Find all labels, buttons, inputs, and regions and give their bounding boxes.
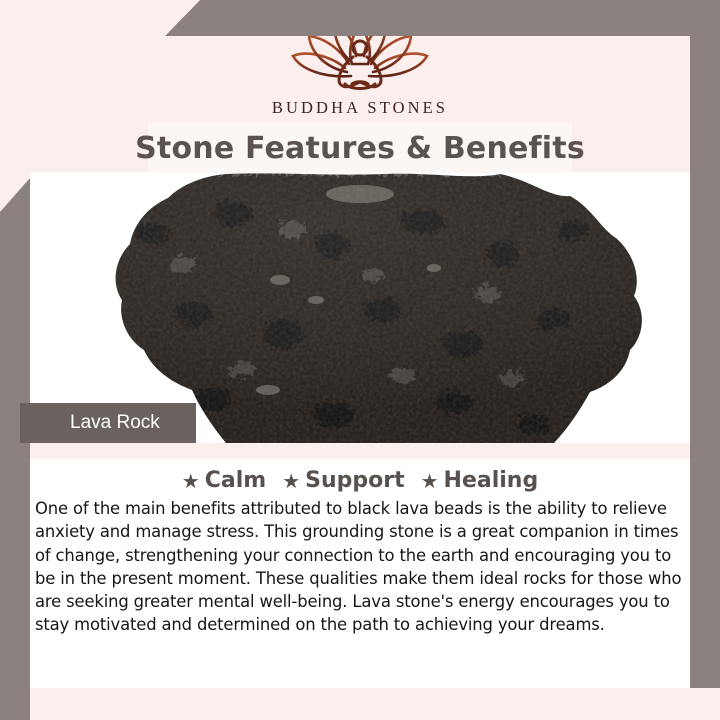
- feature-label: Healing: [444, 468, 539, 493]
- feature-label: Calm: [205, 468, 266, 493]
- page-title: Stone Features & Benefits: [135, 131, 585, 166]
- feature-item-support: ★ Support: [282, 468, 404, 493]
- feature-item-healing: ★ Healing: [421, 468, 539, 493]
- benefits-paragraph: One of the main benefits attributed to b…: [30, 497, 690, 637]
- feature-label: Support: [305, 468, 404, 493]
- photo-label-text: Lava Rock: [70, 412, 160, 434]
- star-icon: ★: [282, 471, 300, 491]
- brand-name: BUDDHA STONES: [272, 98, 448, 118]
- star-icon: ★: [421, 471, 439, 491]
- feature-list: ★ Calm ★ Support ★ Healing: [30, 459, 690, 493]
- title-banner: Stone Features & Benefits: [148, 123, 572, 173]
- photo-label: Lava Rock: [20, 403, 196, 443]
- bottom-cream-strip: [30, 688, 720, 720]
- body-panel: ★ Calm ★ Support ★ Healing One of the ma…: [30, 459, 690, 688]
- frame-right-bar: [690, 0, 720, 720]
- star-icon: ★: [182, 471, 200, 491]
- cream-divider-strip: [30, 443, 690, 459]
- feature-item-calm: ★ Calm: [182, 468, 266, 493]
- infographic-canvas: BUDDHA STONES Stone Features & Benefits: [0, 0, 720, 720]
